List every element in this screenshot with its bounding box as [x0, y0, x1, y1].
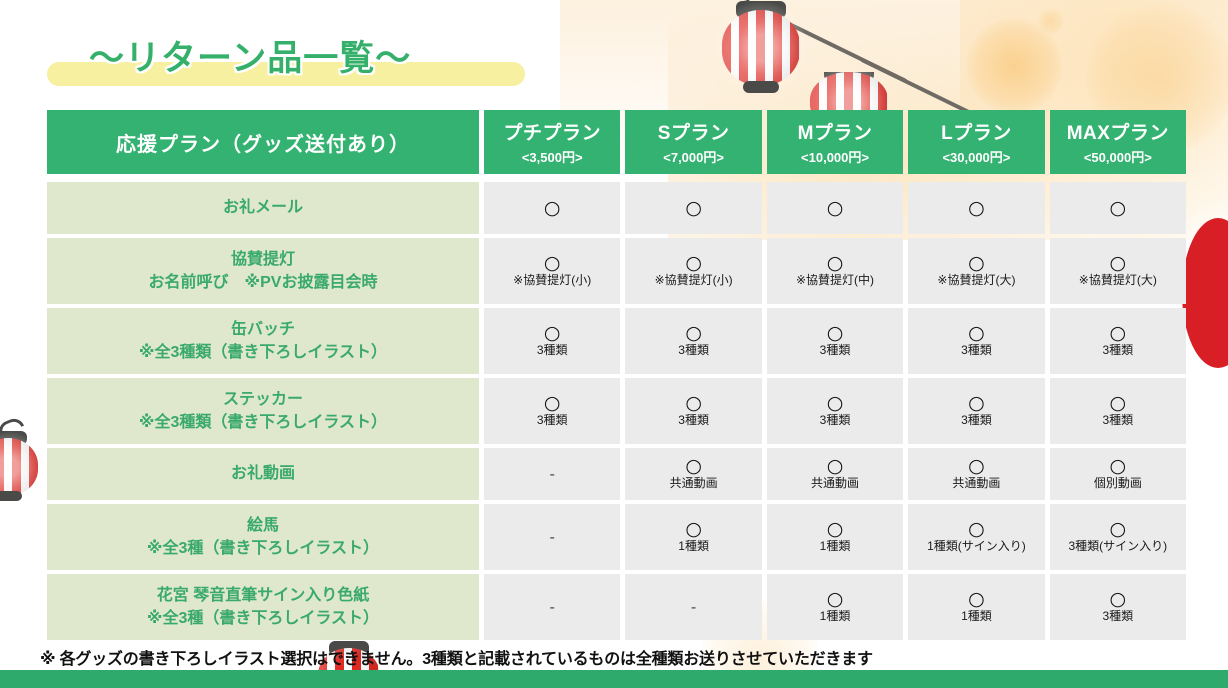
- cell-note: ※協賛提灯(小): [513, 274, 591, 287]
- included-circle-icon: ○: [968, 520, 985, 539]
- included-circle-icon: ○: [544, 254, 561, 273]
- table-header-row: 応援プラン（グッズ送付あり） プチプラン <3,500円> Sプラン <7,00…: [47, 110, 1186, 174]
- cell-note: 3種類: [537, 414, 568, 427]
- table-footnote: ※ 各グッズの書き下ろしイラスト選択はできません。3種類と記載されているものは全…: [40, 645, 1200, 669]
- included-circle-icon: ○: [685, 394, 702, 413]
- row-label-line-2: ※全3種類（書き下ろしイラスト）: [139, 341, 387, 364]
- bokeh-circle-decoration: [966, 18, 1062, 114]
- table-cell: ○3種類: [767, 378, 903, 444]
- included-circle-icon: ○: [968, 590, 985, 609]
- lantern-handle: [0, 416, 25, 436]
- cell-note: ※協賛提灯(小): [655, 274, 733, 287]
- plan-name: Mプラン: [798, 118, 873, 145]
- cell-note: 個別動画: [1094, 477, 1142, 490]
- cell-note: 1種類: [820, 540, 851, 553]
- cell-note: 3種類: [1102, 610, 1133, 623]
- cell-note: ※協賛提灯(大): [937, 274, 1015, 287]
- row-label-cell: 協賛提灯お名前呼び ※PVお披露目会時: [47, 238, 479, 304]
- not-included-dash: -: [549, 530, 554, 545]
- table-cell: ○3種類: [908, 308, 1044, 374]
- lantern-base: [0, 491, 22, 501]
- included-circle-icon: ○: [968, 457, 985, 476]
- plan-name: Sプラン: [658, 118, 730, 145]
- lantern-cap: [824, 72, 874, 81]
- table-row: お礼動画-○共通動画○共通動画○共通動画○個別動画: [47, 448, 1186, 500]
- included-circle-icon: ○: [685, 199, 702, 218]
- row-label-cell: お礼動画: [47, 448, 479, 500]
- included-circle-icon: ○: [968, 199, 985, 218]
- table-cell: ○: [1050, 182, 1186, 234]
- included-circle-icon: ○: [1110, 324, 1127, 343]
- bokeh-circle-decoration: [1038, 8, 1064, 34]
- included-circle-icon: ○: [544, 199, 561, 218]
- paper-lantern-icon: [0, 438, 38, 496]
- included-circle-icon: ○: [1110, 520, 1127, 539]
- row-label-line-2: お名前呼び ※PVお披露目会時: [149, 271, 378, 294]
- table-cell: ○共通動画: [767, 448, 903, 500]
- table-cell: -: [484, 574, 620, 640]
- lantern-body: [722, 10, 800, 86]
- cell-note: 3種類: [678, 344, 709, 357]
- table-cell: ○: [767, 182, 903, 234]
- included-circle-icon: ○: [685, 324, 702, 343]
- included-circle-icon: ○: [968, 394, 985, 413]
- table-row: 缶バッチ※全3種類（書き下ろしイラスト）○3種類○3種類○3種類○3種類○3種類: [47, 308, 1186, 374]
- table-cell: ○1種類: [625, 504, 761, 570]
- table-cell: -: [625, 574, 761, 640]
- cell-note: 3種類: [961, 344, 992, 357]
- table-cell: ○※協賛提灯(大): [1050, 238, 1186, 304]
- table-cell: ○3種類: [908, 378, 1044, 444]
- paper-lantern-icon: [722, 10, 800, 86]
- included-circle-icon: ○: [827, 457, 844, 476]
- included-circle-icon: ○: [827, 199, 844, 218]
- page-title-text: ～リターン品一覧～: [47, 28, 547, 90]
- row-label-line-1: 協賛提灯: [149, 248, 378, 271]
- cell-note: 1種類(サイン入り): [927, 540, 1026, 553]
- row-label-cell: 缶バッチ※全3種類（書き下ろしイラスト）: [47, 308, 479, 374]
- cell-note: 共通動画: [952, 477, 1000, 490]
- return-items-table: 応援プラン（グッズ送付あり） プチプラン <3,500円> Sプラン <7,00…: [47, 110, 1186, 640]
- cell-note: 1種類: [961, 610, 992, 623]
- table-cell: ○: [625, 182, 761, 234]
- table-cell: ○3種類: [625, 308, 761, 374]
- plan-price: <30,000円>: [942, 147, 1010, 166]
- row-label-cell: ステッカー※全3種類（書き下ろしイラスト）: [47, 378, 479, 444]
- cell-note: 3種類: [820, 344, 851, 357]
- included-circle-icon: ○: [1110, 394, 1127, 413]
- table-cell: ○個別動画: [1050, 448, 1186, 500]
- table-cell: ○※協賛提灯(中): [767, 238, 903, 304]
- row-label-line-2: ※全3種（書き下ろしイラスト）: [147, 537, 379, 560]
- table-cell: -: [484, 448, 620, 500]
- included-circle-icon: ○: [1110, 457, 1127, 476]
- included-circle-icon: ○: [968, 254, 985, 273]
- table-row: 花宮 琴音直筆サイン入り色紙※全3種（書き下ろしイラスト）--○1種類○1種類○…: [47, 574, 1186, 640]
- included-circle-icon: ○: [968, 324, 985, 343]
- row-label-cell: お礼メール: [47, 182, 479, 234]
- row-label-line-1: 絵馬: [147, 514, 379, 537]
- table-header-plan-label: 応援プラン（グッズ送付あり）: [47, 110, 479, 174]
- table-cell: ○3種類: [1050, 308, 1186, 374]
- row-label-line-2: ※全3種類（書き下ろしイラスト）: [139, 411, 387, 434]
- table-cell: ○1種類: [908, 574, 1044, 640]
- table-header-plan-2: Mプラン <10,000円>: [767, 110, 903, 174]
- table-cell: ○3種類: [767, 308, 903, 374]
- not-included-dash: -: [549, 600, 554, 615]
- table-cell: ○3種類: [1050, 378, 1186, 444]
- table-cell: ○3種類(サイン入り): [1050, 504, 1186, 570]
- table-cell: ○: [484, 182, 620, 234]
- cell-note: 1種類: [678, 540, 709, 553]
- table-row: ステッカー※全3種類（書き下ろしイラスト）○3種類○3種類○3種類○3種類○3種…: [47, 378, 1186, 444]
- included-circle-icon: ○: [827, 520, 844, 539]
- cell-note: 共通動画: [670, 477, 718, 490]
- table-cell: ○※協賛提灯(小): [484, 238, 620, 304]
- cell-note: ※協賛提灯(中): [796, 274, 874, 287]
- cell-note: 3種類(サイン入り): [1068, 540, 1167, 553]
- row-label-cell: 花宮 琴音直筆サイン入り色紙※全3種（書き下ろしイラスト）: [47, 574, 479, 640]
- red-lantern-edge-decoration: [1182, 218, 1228, 368]
- table-cell: ○1種類: [767, 504, 903, 570]
- not-included-dash: -: [691, 600, 696, 615]
- table-cell: ○3種類: [484, 308, 620, 374]
- plan-name: MAXプラン: [1067, 118, 1169, 145]
- included-circle-icon: ○: [827, 394, 844, 413]
- return-items-table-page: ～リターン品一覧～ 応援プラン（グッズ送付あり） プチプラン <3,500円> …: [0, 0, 1228, 688]
- table-header-plan-3: Lプラン <30,000円>: [908, 110, 1044, 174]
- table-cell: ○※協賛提灯(小): [625, 238, 761, 304]
- included-circle-icon: ○: [685, 457, 702, 476]
- included-circle-icon: ○: [1110, 590, 1127, 609]
- table-cell: ○1種類(サイン入り): [908, 504, 1044, 570]
- table-cell: ○1種類: [767, 574, 903, 640]
- included-circle-icon: ○: [1110, 254, 1127, 273]
- table-cell: ○3種類: [1050, 574, 1186, 640]
- lantern-body: [0, 438, 38, 496]
- row-label-line-2: ※全3種（書き下ろしイラスト）: [147, 607, 379, 630]
- row-label-line-1: 缶バッチ: [139, 318, 387, 341]
- table-row: 協賛提灯お名前呼び ※PVお披露目会時○※協賛提灯(小)○※協賛提灯(小)○※協…: [47, 238, 1186, 304]
- table-cell: ○※協賛提灯(大): [908, 238, 1044, 304]
- plan-price: <50,000円>: [1084, 147, 1152, 166]
- table-row: 絵馬※全3種（書き下ろしイラスト）-○1種類○1種類○1種類(サイン入り)○3種…: [47, 504, 1186, 570]
- plan-price: <3,500円>: [522, 147, 583, 166]
- cell-note: 3種類: [961, 414, 992, 427]
- table-cell: ○3種類: [625, 378, 761, 444]
- table-cell: ○共通動画: [908, 448, 1044, 500]
- plan-price: <7,000円>: [663, 147, 724, 166]
- included-circle-icon: ○: [685, 520, 702, 539]
- row-label-line-1: お礼メール: [223, 196, 303, 219]
- row-label-line-1: ステッカー: [139, 388, 387, 411]
- plan-name: プチプラン: [503, 118, 601, 145]
- included-circle-icon: ○: [544, 394, 561, 413]
- plan-price: <10,000円>: [801, 147, 869, 166]
- not-included-dash: -: [549, 467, 554, 482]
- included-circle-icon: ○: [827, 324, 844, 343]
- lantern-cap: [736, 1, 786, 18]
- cell-note: 3種類: [537, 344, 568, 357]
- lantern-base: [743, 81, 779, 93]
- row-label-line-1: お礼動画: [231, 462, 295, 485]
- table-cell: ○: [908, 182, 1044, 234]
- table-cell: -: [484, 504, 620, 570]
- cell-note: 3種類: [820, 414, 851, 427]
- cell-note: 1種類: [820, 610, 851, 623]
- bottom-green-bar: [0, 670, 1228, 688]
- lantern-rope: [743, 0, 907, 83]
- table-header-plan-4: MAXプラン <50,000円>: [1050, 110, 1186, 174]
- table-body: お礼メール○○○○○協賛提灯お名前呼び ※PVお披露目会時○※協賛提灯(小)○※…: [47, 182, 1186, 640]
- plan-name: Lプラン: [941, 118, 1012, 145]
- page-title: ～リターン品一覧～: [47, 28, 547, 90]
- included-circle-icon: ○: [544, 324, 561, 343]
- included-circle-icon: ○: [1110, 199, 1127, 218]
- table-header-plan-1: Sプラン <7,000円>: [625, 110, 761, 174]
- lantern-handle: [743, 0, 779, 6]
- cell-note: ※協賛提灯(大): [1079, 274, 1157, 287]
- cell-note: 共通動画: [811, 477, 859, 490]
- table-header-plan-0: プチプラン <3,500円>: [484, 110, 620, 174]
- cell-note: 3種類: [1102, 344, 1133, 357]
- included-circle-icon: ○: [685, 254, 702, 273]
- included-circle-icon: ○: [827, 254, 844, 273]
- table-row: お礼メール○○○○○: [47, 182, 1186, 234]
- row-label-cell: 絵馬※全3種（書き下ろしイラスト）: [47, 504, 479, 570]
- table-cell: ○3種類: [484, 378, 620, 444]
- cell-note: 3種類: [1102, 414, 1133, 427]
- lantern-glow: [0, 432, 46, 502]
- included-circle-icon: ○: [827, 590, 844, 609]
- lantern-glow: [711, 2, 811, 93]
- lantern-cap: [0, 431, 27, 445]
- row-label-line-1: 花宮 琴音直筆サイン入り色紙: [147, 584, 379, 607]
- cell-note: 3種類: [678, 414, 709, 427]
- table-cell: ○共通動画: [625, 448, 761, 500]
